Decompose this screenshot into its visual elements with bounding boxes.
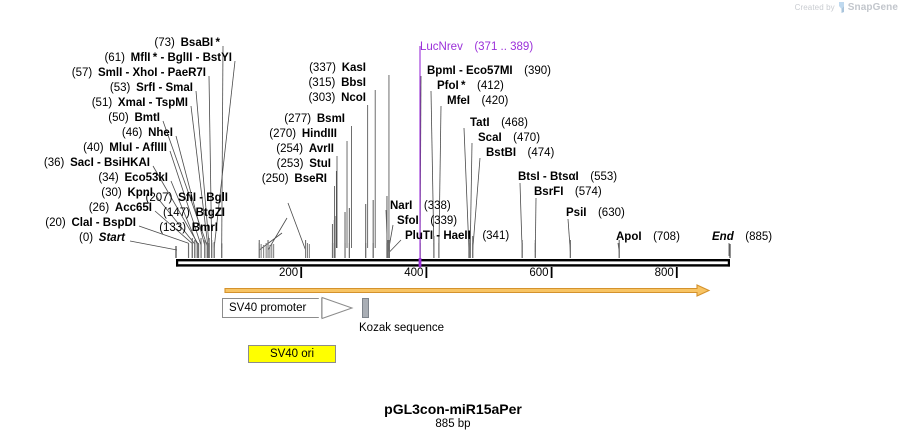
site-name: BbsI: [341, 77, 366, 89]
enzyme-site-label-338[interactable]: NarI (338): [390, 200, 451, 212]
enzyme-site-label-147[interactable]: (147) BtgZI: [163, 207, 225, 219]
site-name: BtsI - BtsαI: [518, 171, 590, 183]
site-position: (133): [159, 222, 192, 234]
site-name: NcoI: [341, 92, 366, 104]
site-name: BmrI: [192, 222, 218, 234]
site-position: (630): [598, 207, 625, 219]
feature-kozak-sequence-label: Kozak sequence: [359, 322, 444, 334]
site-name: BmtI: [134, 112, 160, 124]
site-position: (34): [98, 172, 124, 184]
ruler-label-200: 200: [279, 267, 298, 279]
site-name: BstBI: [486, 147, 528, 159]
site-position: (0): [79, 232, 99, 244]
primer-label-lucnrev[interactable]: LucNrev (371 .. 389): [420, 41, 533, 53]
enzyme-site-label-470[interactable]: ScaI (470): [478, 132, 540, 144]
site-name: MluI - AflIII: [109, 142, 167, 154]
site-name: MflI * - BglII - BstYI: [131, 52, 232, 64]
site-position: (270): [269, 128, 302, 140]
site-name: End: [712, 231, 745, 243]
site-position: (57): [72, 67, 98, 79]
site-position: (371 .. 389): [474, 41, 533, 53]
enzyme-site-label-630[interactable]: PsiI (630): [566, 207, 625, 219]
site-name: Start: [99, 232, 125, 244]
site-position: (50): [108, 112, 134, 124]
site-position: (46): [122, 127, 148, 139]
enzyme-site-label-133[interactable]: (133) BmrI: [159, 222, 218, 234]
plasmid-backbone: [176, 259, 730, 267]
snapgene-linear-map: Created by SnapGene SV: [0, 0, 906, 440]
site-position: (207): [146, 192, 179, 204]
site-name: PluTI - HaeII: [405, 230, 482, 242]
enzyme-site-label-553[interactable]: BtsI - BtsαI (553): [518, 171, 617, 183]
site-name: BsmI: [317, 113, 345, 125]
enzyme-site-label-270[interactable]: (270) HindIII: [269, 128, 337, 140]
site-position: (40): [83, 142, 109, 154]
site-name: HindIII: [302, 128, 337, 140]
site-name: BseRI: [294, 173, 327, 185]
site-position: (26): [89, 202, 115, 214]
site-name: ClaI - BspDI: [71, 217, 136, 229]
label-start[interactable]: (0) Start: [79, 232, 125, 244]
enzyme-site-label-207[interactable]: (207) SfiI - BglI: [146, 192, 228, 204]
site-position: (339): [430, 215, 457, 227]
site-name: NarI: [390, 200, 424, 212]
enzyme-site-label-250[interactable]: (250) BseRI: [262, 173, 327, 185]
enzyme-site-label-390[interactable]: BpmI - Eco57MI (390): [427, 65, 551, 77]
site-name: TatI: [470, 117, 501, 129]
ruler-label-800: 800: [655, 267, 674, 279]
site-position: (253): [277, 158, 310, 170]
site-name: KasI: [342, 62, 366, 74]
site-position: (315): [308, 77, 341, 89]
site-position: (468): [501, 117, 528, 129]
enzyme-site-label-34[interactable]: (34) Eco53kI: [98, 172, 168, 184]
site-position: (553): [590, 171, 617, 183]
site-tick-marks: [176, 196, 730, 258]
site-position: (338): [424, 200, 451, 212]
site-name: BsrFI: [534, 186, 575, 198]
site-name: PsiI: [566, 207, 598, 219]
enzyme-site-label-574[interactable]: BsrFI (574): [534, 186, 602, 198]
enzyme-site-label-26[interactable]: (26) Acc65I: [89, 202, 152, 214]
enzyme-site-label-53[interactable]: (53) SrfI - SmaI: [110, 82, 193, 94]
site-name: StuI: [309, 158, 331, 170]
site-position: (470): [513, 132, 540, 144]
plasmid-length: 885 bp: [0, 418, 906, 430]
site-position: (277): [284, 113, 317, 125]
enzyme-site-label-50[interactable]: (50) BmtI: [108, 112, 160, 124]
site-name: BsaBI *: [181, 37, 220, 49]
site-position: (53): [110, 82, 136, 94]
feature-sv40-ori[interactable]: SV40 ori: [248, 345, 336, 363]
site-position: (885): [745, 231, 772, 243]
enzyme-site-label-40[interactable]: (40) MluI - AflIII: [83, 142, 167, 154]
site-name: SrfI - SmaI: [136, 82, 193, 94]
site-name: SmlI - XhoI - PaeR7I: [98, 67, 206, 79]
site-name: XmaI - TspMI: [118, 97, 188, 109]
orange-feature-arrow[interactable]: [225, 285, 709, 296]
enzyme-site-label-468[interactable]: TatI (468): [470, 117, 528, 129]
site-position: (574): [575, 186, 602, 198]
enzyme-site-label-412[interactable]: PfoI * (412): [437, 80, 504, 92]
site-name: SfoI: [397, 215, 430, 227]
enzyme-site-label-57[interactable]: (57) SmlI - XhoI - PaeR7I: [72, 67, 206, 79]
site-position: (708): [653, 231, 680, 243]
feature-sv40-promoter[interactable]: SV40 promoter: [222, 298, 322, 318]
enzyme-site-label-73[interactable]: (73) BsaBI *: [154, 37, 220, 49]
enzyme-site-label-61[interactable]: (61) MflI * - BglII - BstYI: [104, 52, 232, 64]
enzyme-site-label-337[interactable]: (337) KasI: [309, 62, 366, 74]
site-position: (390): [524, 65, 551, 77]
enzyme-site-label-341[interactable]: PluTI - HaeII (341): [405, 230, 509, 242]
enzyme-site-label-46[interactable]: (46) NheI: [122, 127, 173, 139]
site-position: (337): [309, 62, 342, 74]
ruler-label-400: 400: [404, 267, 423, 279]
site-name: LucNrev: [420, 41, 474, 53]
label-end[interactable]: End (885): [712, 231, 772, 243]
enzyme-site-label-708[interactable]: ApoI (708): [616, 231, 680, 243]
site-position: (51): [92, 97, 118, 109]
site-name: SfiI - BglI: [178, 192, 228, 204]
ruler-label-600: 600: [529, 267, 548, 279]
feature-kozak-sequence-box[interactable]: [362, 298, 369, 318]
ruler-tick-marks: [301, 267, 677, 278]
site-name: MfeI: [447, 95, 482, 107]
enzyme-site-label-51[interactable]: (51) XmaI - TspMI: [92, 97, 188, 109]
site-position: (474): [528, 147, 555, 159]
site-position: (73): [154, 37, 180, 49]
site-position: (250): [262, 173, 295, 185]
site-name: Eco53kI: [125, 172, 168, 184]
enzyme-site-label-277[interactable]: (277) BsmI: [284, 113, 345, 125]
site-name: SacI - BsiHKAI: [70, 157, 150, 169]
site-position: (36): [44, 157, 70, 169]
enzyme-site-label-339[interactable]: SfoI (339): [397, 215, 457, 227]
site-position: (20): [45, 217, 71, 229]
site-position: (61): [104, 52, 130, 64]
site-name: BtgZI: [196, 207, 225, 219]
site-name: NheI: [148, 127, 173, 139]
site-position: (254): [276, 143, 309, 155]
plasmid-name: pGL3con-miR15aPer: [0, 401, 906, 417]
site-name: BpmI - Eco57MI: [427, 65, 524, 77]
enzyme-site-label-303[interactable]: (303) NcoI: [308, 92, 366, 104]
site-position: (341): [482, 230, 509, 242]
enzyme-site-label-420[interactable]: MfeI (420): [447, 95, 508, 107]
site-position: (30): [101, 187, 127, 199]
enzyme-site-label-315[interactable]: (315) BbsI: [308, 77, 366, 89]
site-position: (420): [482, 95, 509, 107]
site-name: ScaI: [478, 132, 513, 144]
site-position: (412): [477, 80, 504, 92]
enzyme-site-label-474[interactable]: BstBI (474): [486, 147, 554, 159]
site-name: AvrII: [309, 143, 334, 155]
enzyme-site-label-20[interactable]: (20) ClaI - BspDI: [45, 217, 136, 229]
site-position: (147): [163, 207, 196, 219]
site-position: (303): [308, 92, 341, 104]
site-name: ApoI: [616, 231, 653, 243]
site-name: PfoI *: [437, 80, 477, 92]
enzyme-site-label-253[interactable]: (253) StuI: [277, 158, 331, 170]
enzyme-site-label-36[interactable]: (36) SacI - BsiHKAI: [44, 157, 150, 169]
enzyme-site-label-254[interactable]: (254) AvrII: [276, 143, 334, 155]
